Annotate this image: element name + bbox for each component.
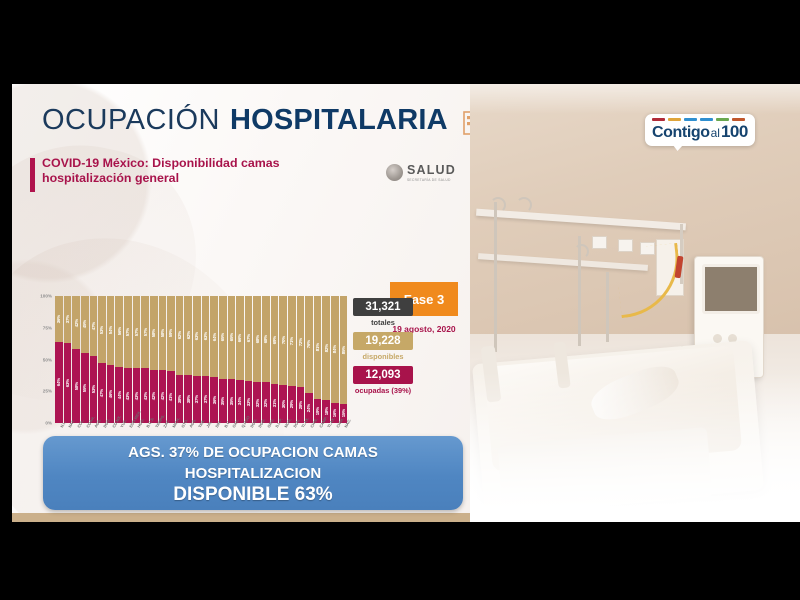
bar-value-ocupacion: 64% xyxy=(56,378,61,386)
stat-ocupadas: 12,093ocupadas (39%) xyxy=(353,366,413,395)
bar-segment-disponibilidad: 37% xyxy=(64,296,72,343)
bar-segment-disponibilidad: 58% xyxy=(150,296,158,370)
chart-bar: 62%38% xyxy=(176,296,184,423)
banner-line-3: DISPONIBLE 63% xyxy=(128,484,378,505)
salud-name: SALUD xyxy=(407,164,456,177)
bar-value-disponibilidad: 42% xyxy=(74,319,79,327)
bar-value-disponibilidad: 62% xyxy=(186,331,191,339)
bar-value-disponibilidad: 57% xyxy=(143,328,148,336)
bar-segment-ocupacion: 46% xyxy=(107,365,115,423)
bar-segment-ocupacion: 35% xyxy=(228,379,236,423)
bar-value-ocupacion: 28% xyxy=(298,401,303,409)
bar-value-disponibilidad: 84% xyxy=(332,345,337,353)
chart-bar: 37%63% xyxy=(64,296,72,423)
bar-segment-disponibilidad: 58% xyxy=(159,296,167,370)
photo-monitor-screen xyxy=(702,264,760,314)
bar-segment-ocupacion: 43% xyxy=(124,368,132,423)
letterbox-top xyxy=(0,0,800,84)
bar-value-ocupacion: 47% xyxy=(99,389,104,397)
chart-bar: 36%64% xyxy=(55,296,63,423)
contigo-word-3: 100 xyxy=(721,123,748,140)
bar-segment-disponibilidad: 57% xyxy=(124,296,132,368)
bar-value-disponibilidad: 66% xyxy=(237,334,242,342)
bar-segment-ocupacion: 63% xyxy=(64,343,72,423)
bar-segment-disponibilidad: 66% xyxy=(236,296,244,380)
bar-value-ocupacion: 36% xyxy=(212,396,217,404)
chart-bar: 63%37% xyxy=(202,296,210,423)
stat-totales-value: 31,321 xyxy=(353,298,413,316)
photo-iv-hook xyxy=(490,197,506,213)
bar-value-ocupacion: 32% xyxy=(255,399,260,407)
chart-y-axis: 0%25%50%75%100% xyxy=(32,296,54,423)
bar-segment-disponibilidad: 81% xyxy=(314,296,322,399)
photo-iv-hook-3 xyxy=(574,244,589,259)
chart-bar: 42%58% xyxy=(72,296,80,423)
bar-segment-ocupacion: 47% xyxy=(98,363,106,423)
contigo-color-bar xyxy=(668,118,681,121)
bar-segment-ocupacion: 41% xyxy=(167,371,175,423)
bar-value-ocupacion: 35% xyxy=(229,397,234,405)
bar-value-disponibilidad: 70% xyxy=(281,336,286,344)
bar-segment-disponibilidad: 57% xyxy=(133,296,141,368)
chart-bar: 81%19% xyxy=(314,296,322,423)
chart-bar: 68%32% xyxy=(262,296,270,423)
contigo-color-bar xyxy=(652,118,665,121)
bar-segment-disponibilidad: 54% xyxy=(107,296,115,365)
banner-line-2: HOSPITALIZACION xyxy=(128,463,378,484)
bar-value-ocupacion: 19% xyxy=(315,407,320,415)
bar-value-ocupacion: 46% xyxy=(108,390,113,398)
bar-segment-disponibilidad: 68% xyxy=(262,296,270,382)
y-tick-label: 75% xyxy=(43,325,52,330)
bar-value-disponibilidad: 68% xyxy=(255,335,260,343)
bar-value-disponibilidad: 58% xyxy=(151,329,156,337)
bar-segment-disponibilidad: 69% xyxy=(271,296,279,384)
bar-value-ocupacion: 24% xyxy=(306,404,311,412)
chart-bar: 65%35% xyxy=(228,296,236,423)
bar-value-disponibilidad: 76% xyxy=(306,340,311,348)
bar-value-ocupacion: 31% xyxy=(272,399,277,407)
stat-totales: 31,321totales xyxy=(353,298,413,327)
bar-segment-ocupacion: 38% xyxy=(184,375,192,423)
bar-value-ocupacion: 37% xyxy=(203,395,208,403)
bar-value-ocupacion: 38% xyxy=(177,395,182,403)
bar-value-ocupacion: 42% xyxy=(151,392,156,400)
bar-segment-disponibilidad: 42% xyxy=(72,296,80,349)
bar-value-ocupacion: 41% xyxy=(168,393,173,401)
bar-value-disponibilidad: 69% xyxy=(272,336,277,344)
bar-segment-disponibilidad: 85% xyxy=(340,296,348,404)
contigo-color-bar xyxy=(700,118,713,121)
bar-value-ocupacion: 53% xyxy=(91,385,96,393)
bar-segment-disponibilidad: 68% xyxy=(253,296,261,382)
stat-ocupadas-caption: ocupadas (39%) xyxy=(353,386,413,395)
bar-segment-disponibilidad: 67% xyxy=(245,296,253,381)
stat-disponibles: 19,228disponibles xyxy=(353,332,413,361)
lower-third-banner: AGS. 37% DE OCUPACION CAMAS HOSPITALIZAC… xyxy=(43,436,463,510)
y-tick-label: 50% xyxy=(43,357,52,362)
bar-value-disponibilidad: 37% xyxy=(65,315,70,323)
chart-plot-area: 36%64%37%63%42%58%45%55%47%53%53%47%54%4… xyxy=(55,296,347,423)
bar-segment-disponibilidad: 63% xyxy=(193,296,201,376)
salud-subtitle: SECRETARÍA DE SALUD xyxy=(407,179,456,182)
stat-totales-caption: totales xyxy=(353,318,413,327)
bar-value-disponibilidad: 65% xyxy=(229,333,234,341)
contigo-word-1: Contigo xyxy=(652,125,710,141)
bar-value-ocupacion: 42% xyxy=(160,392,165,400)
slide-footer-bar xyxy=(12,513,470,522)
photo-pipe-2 xyxy=(606,272,609,342)
bar-value-ocupacion: 43% xyxy=(143,392,148,400)
y-tick-label: 0% xyxy=(45,421,52,426)
photo-bottom-fade xyxy=(470,372,800,522)
hospital-room-photo: Contigo al 100 xyxy=(470,84,800,522)
bar-value-disponibilidad: 47% xyxy=(91,322,96,330)
bar-segment-disponibilidad: 71% xyxy=(288,296,296,386)
bar-value-ocupacion: 29% xyxy=(289,400,294,408)
bar-value-disponibilidad: 59% xyxy=(168,329,173,337)
salud-logo: SALUD SECRETARÍA DE SALUD xyxy=(386,164,456,182)
chart-bar: 63%37% xyxy=(193,296,201,423)
chart-bar: 67%33% xyxy=(245,296,253,423)
salud-logo-text: SALUD SECRETARÍA DE SALUD xyxy=(407,164,456,182)
stats-column: 31,321totales19,228disponibles12,093ocup… xyxy=(353,298,413,400)
slide-header: OCUPACIÓN HOSPITALARIA xyxy=(12,84,470,150)
chart-bar: 76%24% xyxy=(305,296,313,423)
bar-segment-disponibilidad: 76% xyxy=(305,296,313,393)
bar-segment-ocupacion: 64% xyxy=(55,342,63,423)
bar-value-disponibilidad: 58% xyxy=(160,329,165,337)
bar-segment-ocupacion: 37% xyxy=(202,376,210,423)
bar-value-ocupacion: 44% xyxy=(117,391,122,399)
bar-value-ocupacion: 63% xyxy=(65,379,70,387)
chart-bar: 70%30% xyxy=(279,296,287,423)
bar-value-disponibilidad: 53% xyxy=(99,326,104,334)
bar-value-ocupacion: 32% xyxy=(263,399,268,407)
bar-segment-disponibilidad: 56% xyxy=(115,296,123,367)
bar-segment-ocupacion: 58% xyxy=(72,349,80,423)
photo-top-fade xyxy=(470,84,800,114)
bar-value-ocupacion: 37% xyxy=(194,395,199,403)
bar-value-ocupacion: 43% xyxy=(134,392,139,400)
bar-value-ocupacion: 43% xyxy=(125,392,130,400)
bar-value-ocupacion: 18% xyxy=(324,407,329,415)
bar-value-ocupacion: 15% xyxy=(341,409,346,417)
bar-value-disponibilidad: 72% xyxy=(298,338,303,346)
chart-bar: 85%15% xyxy=(340,296,348,423)
bar-value-ocupacion: 33% xyxy=(246,398,251,406)
bar-segment-disponibilidad: 36% xyxy=(55,296,63,342)
bar-segment-ocupacion: 36% xyxy=(210,377,218,423)
bar-value-disponibilidad: 71% xyxy=(289,337,294,345)
contigo-al-100-logo: Contigo al 100 xyxy=(645,114,755,146)
bar-value-ocupacion: 34% xyxy=(237,397,242,405)
chart-bar: 82%18% xyxy=(322,296,330,423)
chart-bar: 71%29% xyxy=(288,296,296,423)
chart-bar: 57%43% xyxy=(133,296,141,423)
chart-subtitle: COVID-19 México: Disponibilidad camas ho… xyxy=(42,156,372,186)
bar-segment-ocupacion: 43% xyxy=(141,368,149,423)
bar-value-disponibilidad: 45% xyxy=(82,320,87,328)
title-word-ocupacion: OCUPACIÓN xyxy=(42,104,220,137)
stat-ocupadas-value: 12,093 xyxy=(353,366,413,384)
chart-bar: 62%38% xyxy=(184,296,192,423)
chart-bar: 64%36% xyxy=(210,296,218,423)
bar-value-disponibilidad: 64% xyxy=(212,333,217,341)
photo-iv-pole xyxy=(494,202,497,352)
y-tick-label: 25% xyxy=(43,389,52,394)
bar-segment-disponibilidad: 62% xyxy=(184,296,192,375)
bar-value-disponibilidad: 36% xyxy=(56,315,61,323)
chart-bar: 57%43% xyxy=(141,296,149,423)
bar-value-ocupacion: 35% xyxy=(220,397,225,405)
screenshot-stage: OCUPACIÓN HOSPITALARIA COVID-19 México: … xyxy=(0,0,800,600)
bar-segment-ocupacion: 53% xyxy=(90,356,98,423)
photo-wall-outlet xyxy=(592,236,607,249)
chart-bar: 53%47% xyxy=(98,296,106,423)
chart-bar: 45%55% xyxy=(81,296,89,423)
contigo-color-bar xyxy=(732,118,745,121)
subtitle-accent-bar xyxy=(30,158,35,192)
page-title: OCUPACIÓN HOSPITALARIA xyxy=(42,102,470,138)
contigo-logo-text: Contigo al 100 xyxy=(652,123,748,141)
stat-disponibles-value: 19,228 xyxy=(353,332,413,350)
bar-value-ocupacion: 30% xyxy=(281,400,286,408)
bar-segment-ocupacion: 32% xyxy=(262,382,270,423)
bar-segment-disponibilidad: 72% xyxy=(297,296,305,387)
bar-value-disponibilidad: 63% xyxy=(203,332,208,340)
chart-bar: 59%41% xyxy=(167,296,175,423)
chart-bar: 84%16% xyxy=(331,296,339,423)
y-tick-label: 100% xyxy=(40,294,52,299)
bar-value-ocupacion: 55% xyxy=(82,384,87,392)
mexico-seal-icon xyxy=(386,164,403,181)
chart-bar: 57%43% xyxy=(124,296,132,423)
bar-segment-ocupacion: 42% xyxy=(150,370,158,423)
bar-value-disponibilidad: 81% xyxy=(315,343,320,351)
hospital-building-icon xyxy=(458,100,470,136)
photo-knob xyxy=(713,334,722,343)
chart-bar: 68%32% xyxy=(253,296,261,423)
bar-value-disponibilidad: 82% xyxy=(324,344,329,352)
chart-bar: 47%53% xyxy=(90,296,98,423)
stacked-bar-chart: 0%25%50%75%100% 36%64%37%63%42%58%45%55%… xyxy=(32,296,347,436)
bar-value-disponibilidad: 54% xyxy=(108,326,113,334)
bar-value-disponibilidad: 67% xyxy=(246,334,251,342)
contigo-color-bars xyxy=(652,118,748,121)
title-word-hospitalaria: HOSPITALARIA xyxy=(230,104,448,137)
contigo-color-bar xyxy=(684,118,697,121)
bar-value-disponibilidad: 85% xyxy=(341,346,346,354)
bar-segment-disponibilidad: 62% xyxy=(176,296,184,375)
contigo-color-bar xyxy=(716,118,729,121)
bar-value-ocupacion: 38% xyxy=(186,395,191,403)
photo-iv-hook-2 xyxy=(516,197,532,213)
bar-segment-disponibilidad: 47% xyxy=(90,296,98,356)
bar-value-ocupacion: 16% xyxy=(332,409,337,417)
chart-bar: 58%42% xyxy=(150,296,158,423)
bar-value-disponibilidad: 57% xyxy=(125,328,130,336)
bar-segment-disponibilidad: 82% xyxy=(322,296,330,400)
chart-bar: 65%35% xyxy=(219,296,227,423)
banner-text: AGS. 37% DE OCUPACION CAMAS HOSPITALIZAC… xyxy=(128,442,378,505)
bar-segment-disponibilidad: 64% xyxy=(210,296,218,377)
chart-bar: 56%44% xyxy=(115,296,123,423)
banner-line-1: AGS. 37% DE OCUPACION CAMAS xyxy=(128,442,378,463)
bar-segment-disponibilidad: 57% xyxy=(141,296,149,368)
bar-segment-disponibilidad: 63% xyxy=(202,296,210,376)
letterbox-bottom xyxy=(0,522,800,600)
bar-segment-ocupacion: 37% xyxy=(193,376,201,423)
chart-bar: 66%34% xyxy=(236,296,244,423)
bar-value-disponibilidad: 65% xyxy=(220,333,225,341)
bar-value-disponibilidad: 56% xyxy=(117,327,122,335)
bar-segment-ocupacion: 34% xyxy=(236,380,244,423)
bar-segment-disponibilidad: 65% xyxy=(228,296,236,379)
bar-segment-ocupacion: 55% xyxy=(81,353,89,423)
chart-bar: 72%28% xyxy=(297,296,305,423)
bar-segment-disponibilidad: 45% xyxy=(81,296,89,353)
stat-disponibles-caption: disponibles xyxy=(353,352,413,361)
bar-segment-disponibilidad: 70% xyxy=(279,296,287,385)
chart-bar: 58%42% xyxy=(159,296,167,423)
bar-value-disponibilidad: 63% xyxy=(194,332,199,340)
bar-value-disponibilidad: 68% xyxy=(263,335,268,343)
bar-segment-disponibilidad: 53% xyxy=(98,296,106,363)
bar-value-disponibilidad: 62% xyxy=(177,331,182,339)
contigo-word-2: al xyxy=(711,127,720,139)
bar-segment-ocupacion: 35% xyxy=(219,379,227,423)
chart-bar: 69%31% xyxy=(271,296,279,423)
bar-segment-disponibilidad: 84% xyxy=(331,296,339,403)
chart-bar: 54%46% xyxy=(107,296,115,423)
bar-value-disponibilidad: 57% xyxy=(134,328,139,336)
bar-value-ocupacion: 58% xyxy=(74,382,79,390)
bar-segment-disponibilidad: 59% xyxy=(167,296,175,371)
bar-segment-disponibilidad: 65% xyxy=(219,296,227,379)
